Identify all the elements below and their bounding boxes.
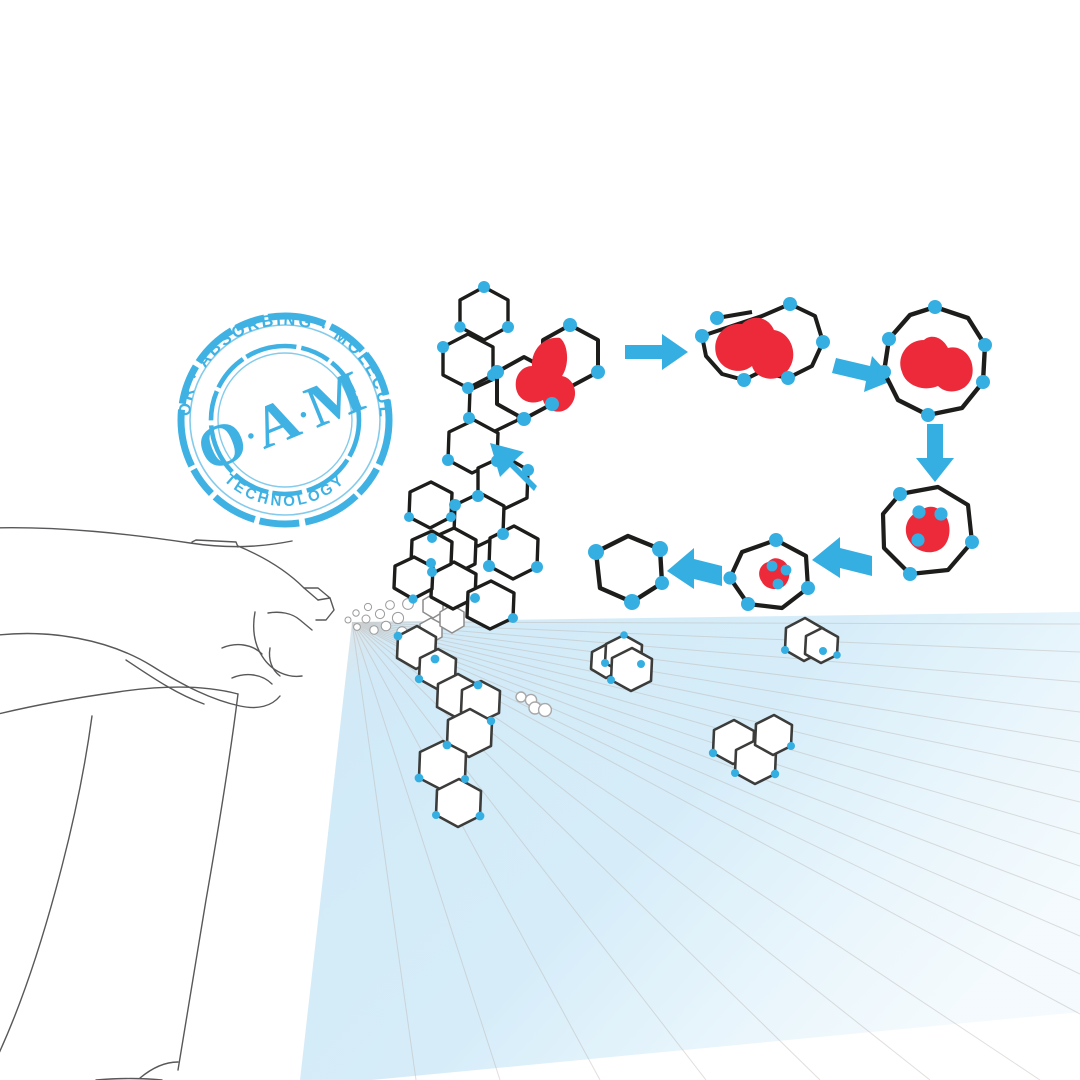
arrow-breakdown-to-eliminate xyxy=(812,537,872,578)
arrow-identify-to-bond xyxy=(625,334,688,370)
stage-eliminated-molecule xyxy=(588,536,669,610)
stage-fragment-molecule xyxy=(723,533,815,611)
stage-identify-molecule xyxy=(490,318,605,426)
arrow-fragment-to-eliminated xyxy=(667,548,722,589)
oam-stamp-logo: ODOR · ABSORBING · MOLECULES TECHNOLOGY … xyxy=(0,0,394,524)
stamp-arc-top: ODOR · ABSORBING · MOLECULES xyxy=(0,0,394,420)
arrow-absorb-to-breakdown xyxy=(916,424,954,482)
infographic-artwork: ODOR · ABSORBING · MOLECULES TECHNOLOGY … xyxy=(0,0,1080,1080)
stage-absorb-molecule xyxy=(877,300,992,422)
spray-bottle-hand-lineart xyxy=(0,528,334,1080)
stage-breakdown-molecule xyxy=(883,487,979,581)
infographic-canvas: ODOR · ABSORBING · MOLECULES TECHNOLOGY … xyxy=(0,0,1080,1080)
stage-bond-molecule xyxy=(695,297,830,387)
svg-text:ODOR · ABSORBING · MOLECULES: ODOR · ABSORBING · MOLECULES xyxy=(0,0,394,420)
oam-cycle-diagram xyxy=(490,297,992,611)
